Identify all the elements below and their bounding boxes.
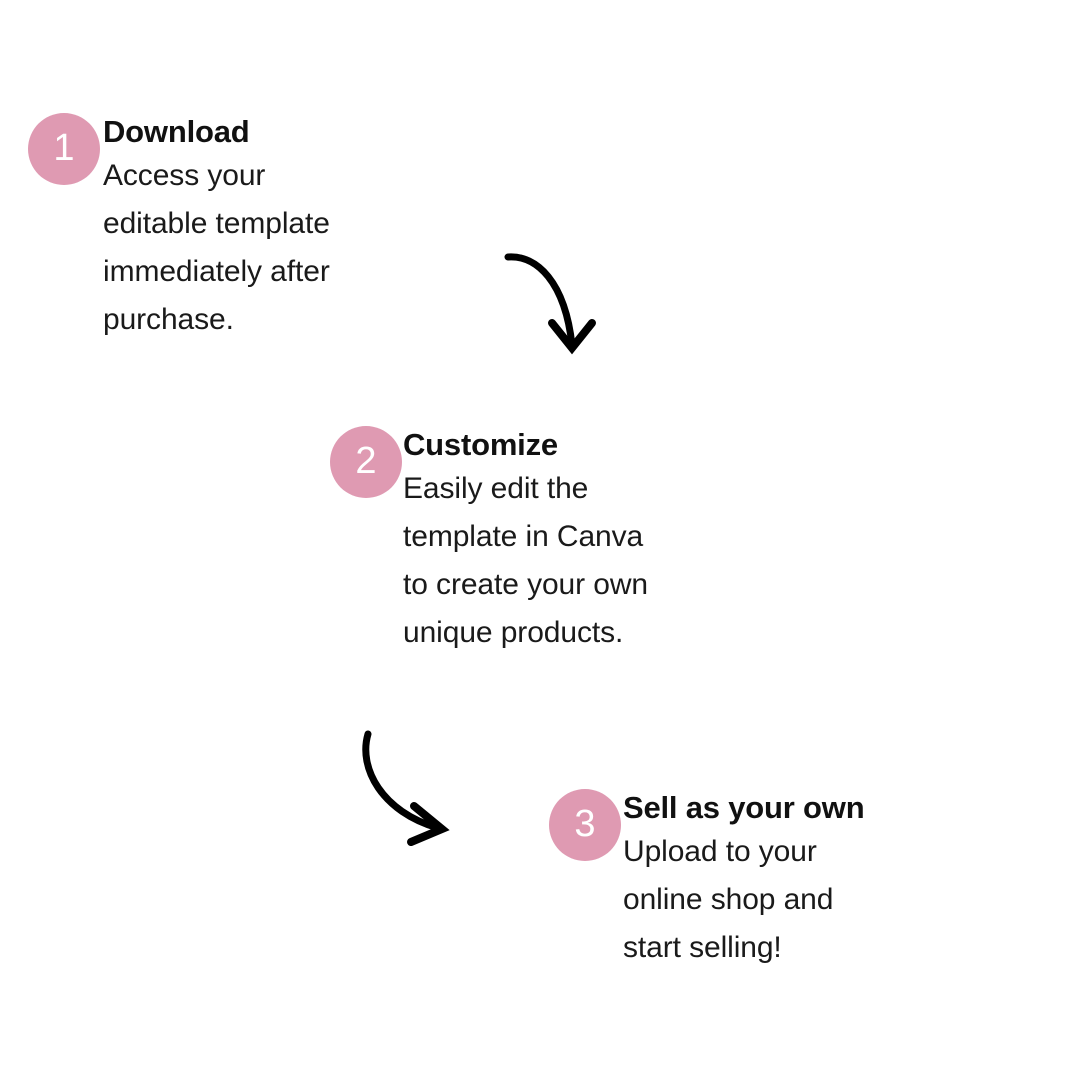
step-body-line: template in Canva xyxy=(403,513,823,561)
step-body-line: online shop and xyxy=(623,876,1043,924)
step-text-block-2: Customize Easily edit the template in Ca… xyxy=(403,425,823,657)
step-body-line: Upload to your xyxy=(623,828,1043,876)
step-body-3: Upload to your online shop and start sel… xyxy=(623,828,1043,972)
step-body-1: Access your editable template immediatel… xyxy=(103,152,523,344)
step-body-line: unique products. xyxy=(403,609,823,657)
step-body-line: purchase. xyxy=(103,296,523,344)
step-number-label-3: 3 xyxy=(549,789,621,861)
step-body-line: Easily edit the xyxy=(403,465,823,513)
step-number-label-1: 1 xyxy=(28,113,100,185)
step-body-line: editable template xyxy=(103,200,523,248)
step-number-label-2: 2 xyxy=(330,426,402,498)
step-number-badge-2: 2 xyxy=(330,426,402,498)
step-body-line: start selling! xyxy=(623,924,1043,972)
step-number-badge-1: 1 xyxy=(28,113,100,185)
step-body-2: Easily edit the template in Canva to cre… xyxy=(403,465,823,657)
step-text-block-3: Sell as your own Upload to your online s… xyxy=(623,788,1043,972)
step-body-line: immediately after xyxy=(103,248,523,296)
step-heading-2: Customize xyxy=(403,425,823,465)
step-body-line: to create your own xyxy=(403,561,823,609)
step-body-line: Access your xyxy=(103,152,523,200)
step-heading-3: Sell as your own xyxy=(623,788,1043,828)
step-heading-1: Download xyxy=(103,112,523,152)
arrow-step-2-to-3-icon xyxy=(352,720,462,845)
step-number-badge-3: 3 xyxy=(549,789,621,861)
step-text-block-1: Download Access your editable template i… xyxy=(103,112,523,344)
infographic-canvas: 1 Download Access your editable template… xyxy=(0,0,1080,1080)
